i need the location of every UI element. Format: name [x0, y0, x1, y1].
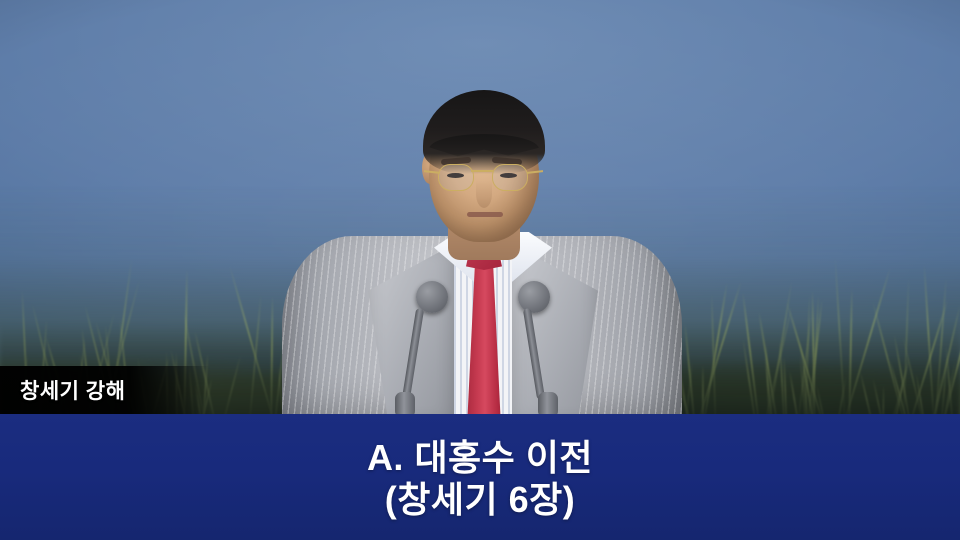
- caption-bar: A. 대홍수 이전 (창세기 6장): [0, 414, 960, 540]
- caption-line-1: A. 대홍수 이전: [367, 437, 593, 479]
- eyeglasses-lens-left: [438, 164, 474, 191]
- microphone-head-right: [518, 281, 550, 313]
- video-frame: 창세기 강해 A. 대홍수 이전 (창세기 6장): [0, 0, 960, 540]
- series-banner: 창세기 강해: [0, 366, 210, 414]
- eyeglasses-bridge: [471, 170, 493, 172]
- series-banner-label: 창세기 강해: [0, 375, 125, 405]
- mouth: [467, 212, 503, 217]
- caption-line-2: (창세기 6장): [385, 479, 575, 521]
- nose: [476, 180, 492, 208]
- eyeglasses-lens-right: [492, 164, 528, 191]
